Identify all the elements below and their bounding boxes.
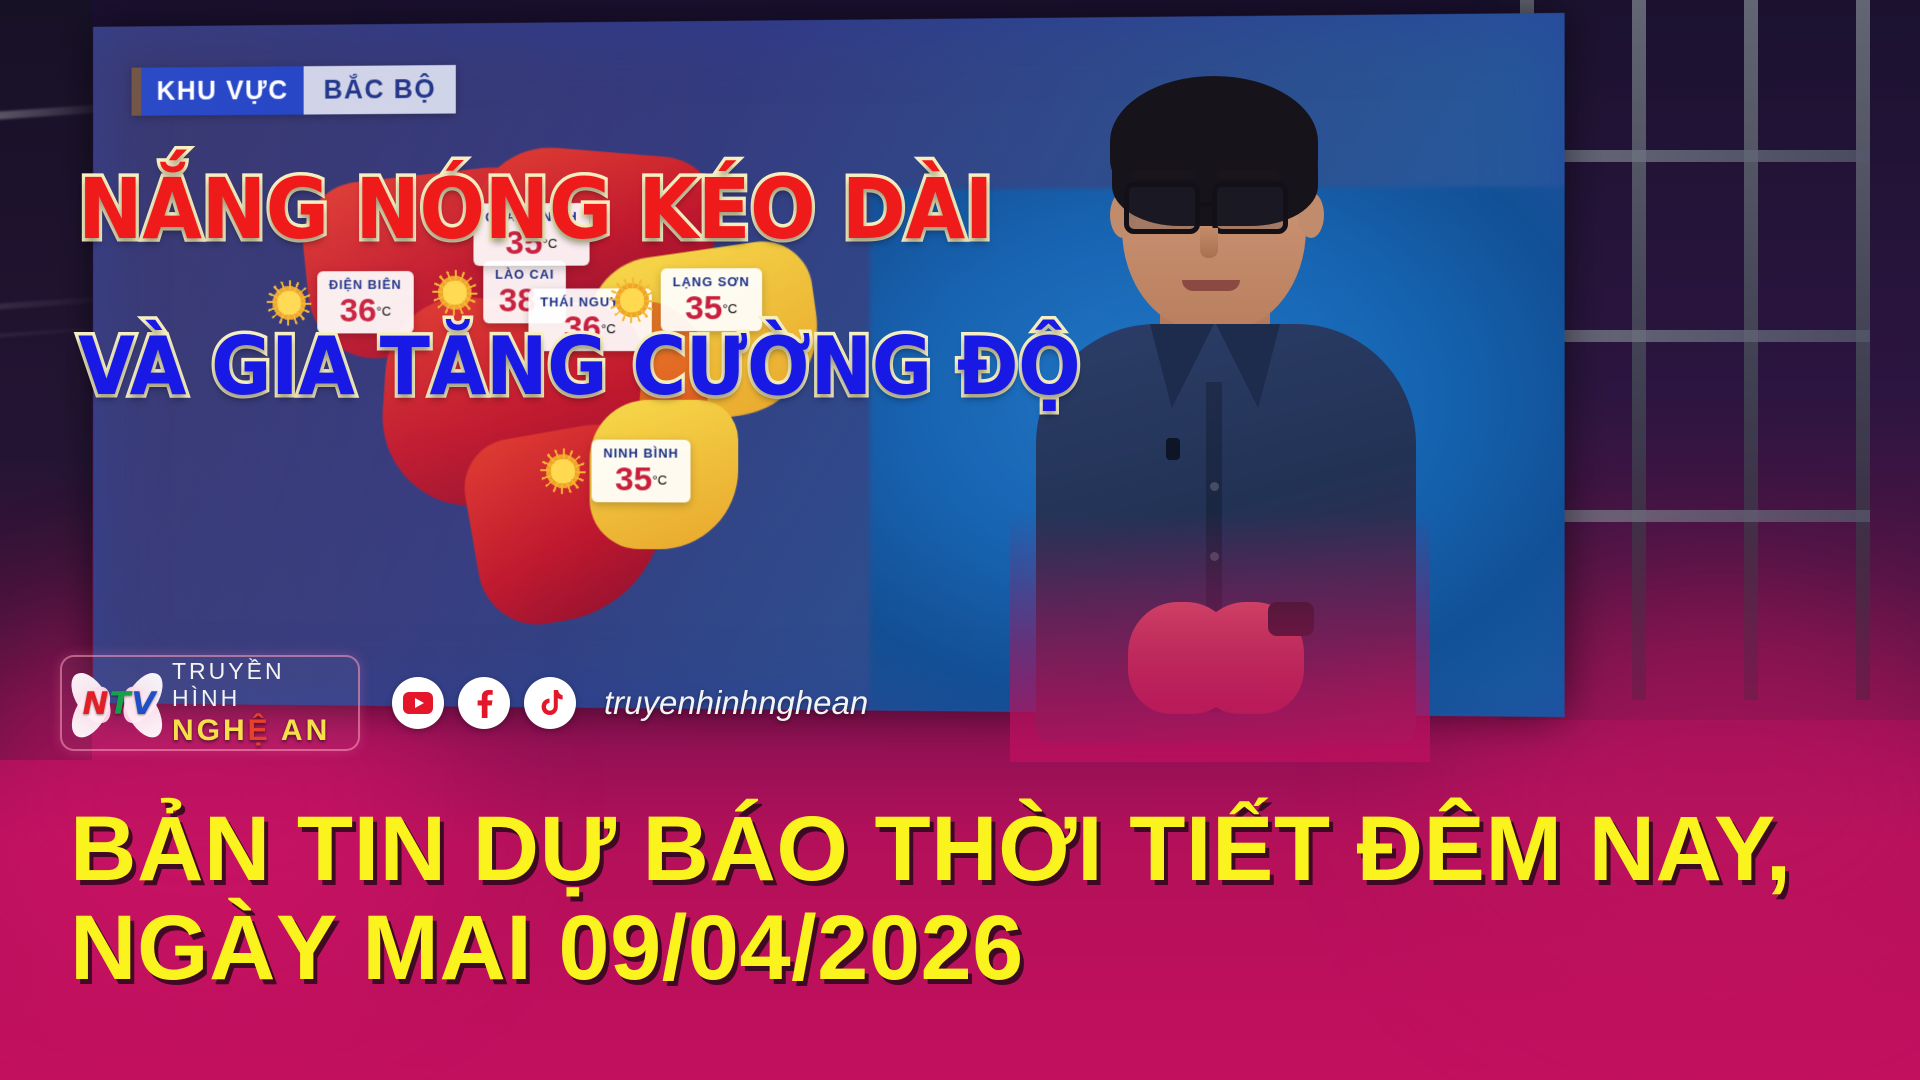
presenter-ear	[1298, 192, 1324, 238]
presenter-eyebrow	[1130, 170, 1194, 179]
social-handle: truyenhinhnghean	[604, 684, 868, 722]
bottom-title-line2: NGÀY MAI 09/04/2026	[70, 899, 1870, 998]
facebook-icon[interactable]	[458, 677, 510, 729]
studio-grid-row	[1520, 510, 1870, 522]
eyeglasses-icon	[1124, 182, 1200, 234]
presenter-mouth	[1182, 280, 1240, 291]
ntv-logo: NTV TRUYỀN HÌNH NGHỆ AN	[60, 655, 360, 751]
studio-grid-row	[1520, 150, 1870, 162]
channel-name-head: NGH	[172, 714, 248, 747]
channel-name-line1: TRUYỀN HÌNH	[172, 658, 346, 712]
headline-line-1: NẮNG NÓNG KÉO DÀI	[78, 160, 993, 258]
channel-name-accent: Ệ	[248, 714, 271, 747]
bottom-title: BẢN TIN DỰ BÁO THỜI TIẾT ĐÊM NAY, NGÀY M…	[70, 800, 1870, 999]
lapel-microphone-icon	[1166, 438, 1180, 460]
headline-line-2: VÀ GIA TĂNG CƯỜNG ĐỘ	[78, 320, 1080, 413]
eyeglasses-icon	[1212, 182, 1288, 234]
ntv-letter-v: V	[132, 686, 156, 722]
channel-name-tail: AN	[271, 714, 331, 747]
tiktok-icon[interactable]	[524, 677, 576, 729]
youtube-icon[interactable]	[392, 677, 444, 729]
bottom-title-line1: BẢN TIN DỰ BÁO THỜI TIẾT ĐÊM NAY,	[70, 800, 1870, 899]
studio-grid-column	[1744, 0, 1758, 700]
ntv-letter-n: N	[82, 686, 108, 722]
ntv-letter-t: T	[109, 686, 130, 722]
presenter-fade	[1010, 512, 1430, 762]
shirt-button	[1210, 482, 1219, 491]
branding-bar: NTV TRUYỀN HÌNH NGHỆ AN	[60, 655, 868, 751]
ntv-lotus-mark: NTV	[74, 668, 162, 738]
eyeglasses-bridge	[1200, 202, 1214, 207]
ntv-letters: NTV	[80, 684, 158, 724]
studio-grid-column	[1856, 0, 1870, 700]
broadcast-thumbnail: KHU VỰC BẮC BỘ ĐIỆN BIÊN 36°C LÀO CAI	[0, 0, 1920, 1080]
ntv-wordmark: TRUYỀN HÌNH NGHỆ AN	[172, 658, 346, 748]
studio-grid-row	[1520, 330, 1870, 342]
presenter-eyebrow	[1216, 170, 1280, 179]
channel-name-line2: NGHỆ AN	[172, 714, 346, 748]
presenter-nose	[1200, 228, 1218, 258]
social-icons: truyenhinhnghean	[392, 677, 868, 729]
studio-grid-column	[1632, 0, 1646, 700]
